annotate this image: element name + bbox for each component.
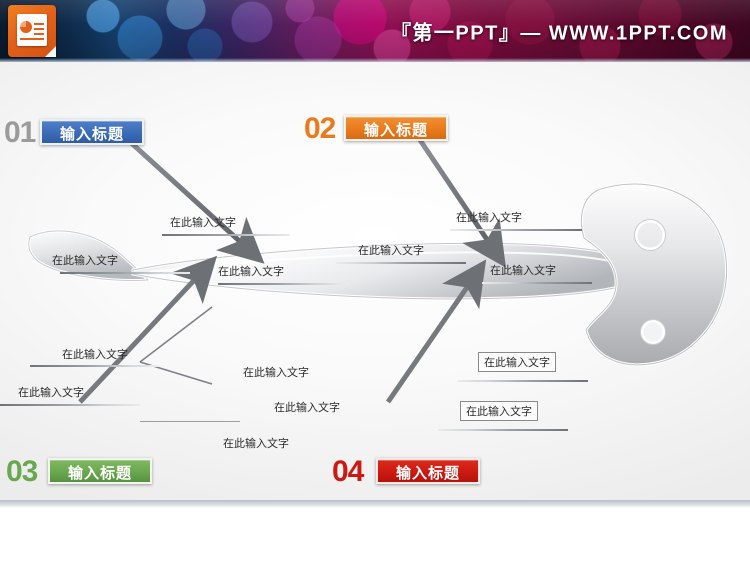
- entry-underline: [336, 262, 466, 264]
- site-header-banner: 『第一PPT』— WWW.1PPT.COM: [0, 0, 750, 62]
- entry-text: 在此输入文字: [490, 262, 556, 278]
- footer-divider: [0, 500, 750, 508]
- fish-eye-lower: [642, 321, 664, 343]
- entry-underline: [218, 283, 348, 285]
- branch-number-01: 01: [4, 116, 35, 150]
- entry-text: 在此输入文字: [243, 364, 309, 380]
- branch-number-04: 04: [332, 455, 363, 489]
- entry-underline: [450, 229, 582, 231]
- entry-text-boxed: 在此输入文字: [460, 401, 538, 421]
- branch-number-03: 03: [6, 455, 37, 489]
- entry-text: 在此输入文字: [62, 346, 128, 362]
- logo-text-line: [34, 28, 44, 30]
- branch-number-02: 02: [304, 112, 335, 146]
- entry-underline: [140, 421, 240, 422]
- powerpoint-document-icon: [8, 5, 56, 57]
- branch-arrow-01: [128, 140, 246, 247]
- entry-text: 在此输入文字: [18, 384, 84, 400]
- site-footer: 第一PPT HTTP://WWW.1PPT.COM: [0, 500, 750, 562]
- entry-text: 在此输入文字: [274, 399, 340, 415]
- entry-text: 在此输入文字: [456, 209, 522, 225]
- sub-branch-line: [140, 307, 212, 362]
- branch-title-04[interactable]: 输入标题: [376, 458, 480, 484]
- entry-text: 在此输入文字: [223, 435, 289, 451]
- logo-pie-chart-icon: [20, 21, 32, 33]
- logo-text-line: [34, 33, 44, 35]
- entry-underline: [162, 234, 290, 236]
- entry-underline: [458, 380, 588, 382]
- header-brand-text: 『第一PPT』— WWW.1PPT.COM: [391, 17, 728, 46]
- entry-text: 在此输入文字: [358, 242, 424, 258]
- entry-underline: [482, 282, 592, 284]
- branch-title-01[interactable]: 输入标题: [40, 119, 144, 145]
- branch-title-03[interactable]: 输入标题: [48, 458, 152, 484]
- logo-text-line: [34, 23, 44, 25]
- entry-text: 在此输入文字: [52, 252, 118, 268]
- entry-text: 在此输入文字: [218, 263, 284, 279]
- logo-text-line: [20, 38, 44, 40]
- entry-text-boxed: 在此输入文字: [478, 352, 556, 372]
- logo-document-sheet: [17, 14, 47, 46]
- entry-underline: [0, 404, 140, 406]
- slide-canvas: 01 输入标题 在此输入文字 在此输入文字 在此输入文字 02 输入标题 在此输…: [0, 62, 750, 500]
- entry-text: 在此输入文字: [170, 214, 236, 230]
- branch-arrow-03: [80, 274, 200, 402]
- entry-underline: [438, 429, 568, 431]
- branch-title-02[interactable]: 输入标题: [344, 115, 448, 141]
- entry-underline: [30, 365, 158, 367]
- entry-underline: [60, 272, 190, 274]
